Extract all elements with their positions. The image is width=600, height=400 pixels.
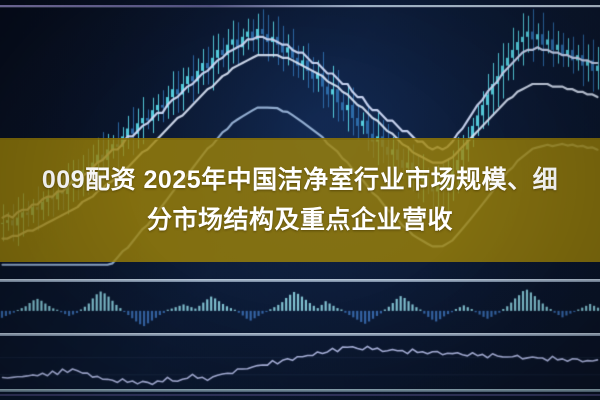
banner-title-block: 009配资 2025年中国洁净室行业市场规模、细 分市场结构及重点企业营收	[0, 138, 600, 262]
banner-title-line-1: 009配资 2025年中国洁净室行业市场规模、细	[42, 163, 558, 197]
banner-title-line-2: 分市场结构及重点企业营收	[147, 203, 453, 237]
banner-image: 009配资 2025年中国洁净室行业市场规模、细 分市场结构及重点企业营收	[0, 0, 600, 400]
